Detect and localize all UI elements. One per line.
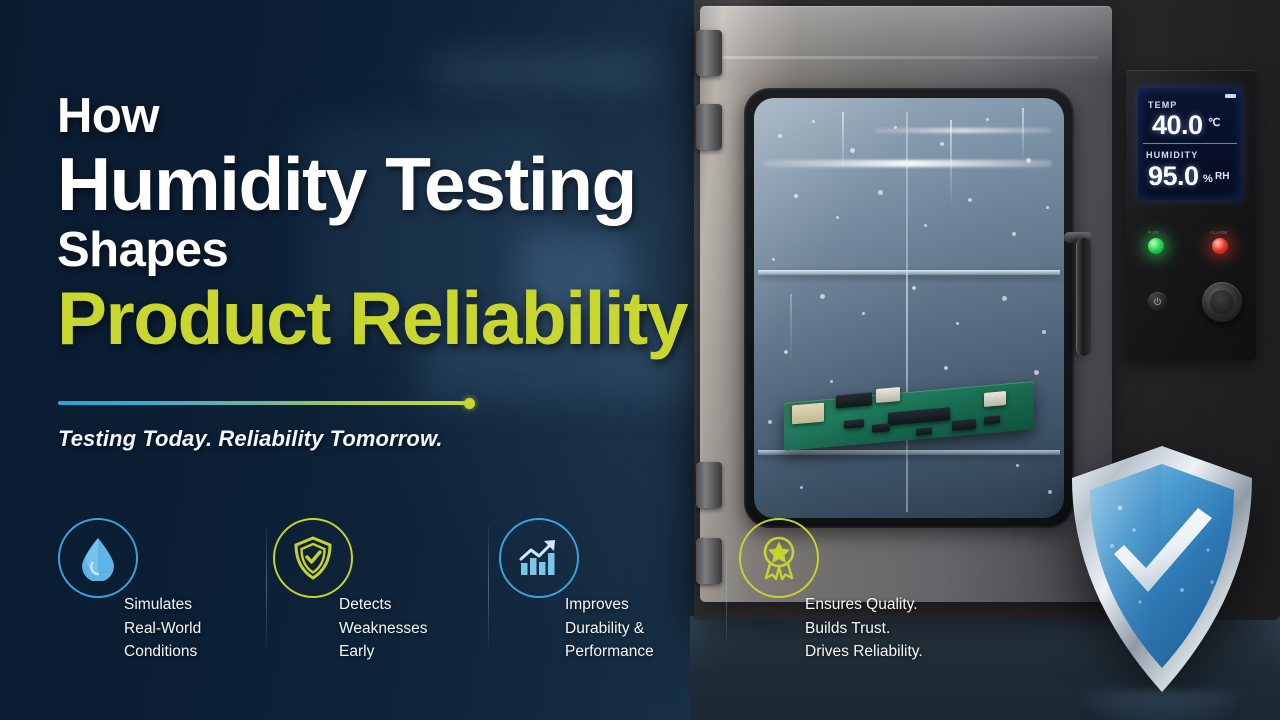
door-seam xyxy=(716,56,1098,59)
award-ribbon-icon xyxy=(757,534,801,582)
feature-line: Simulates xyxy=(124,593,201,617)
mode-button[interactable] xyxy=(1148,292,1167,311)
humidity-unit-rh: RH xyxy=(1215,171,1229,182)
headline-line-2: Humidity Testing xyxy=(57,147,717,222)
feature-line: Weaknesses xyxy=(339,617,427,641)
door-hinge-lower xyxy=(696,462,722,508)
feature-item-improves: Improves Durability & Performance xyxy=(499,518,739,664)
headline-line-1: How xyxy=(57,92,717,141)
feature-divider-3 xyxy=(726,524,727,646)
lcd-separator xyxy=(1143,143,1237,144)
humidity-value: 95.0 xyxy=(1148,161,1199,192)
shield-check-icon-ring xyxy=(273,518,353,598)
feature-divider-2 xyxy=(488,524,489,646)
headline-line-4: Product Reliability xyxy=(57,281,717,356)
feature-text-improves: Improves Durability & Performance xyxy=(565,593,654,664)
humidity-unit-percent: % xyxy=(1203,173,1213,185)
feature-line: Improves xyxy=(565,593,654,617)
water-drop-icon xyxy=(78,535,118,581)
chamber-window-glass xyxy=(754,98,1064,518)
door-highlight xyxy=(700,6,1112,76)
chamber-window-frame xyxy=(744,88,1074,528)
feature-line: Real-World xyxy=(124,617,201,641)
shield-check-icon xyxy=(292,535,334,581)
feature-item-detects: Detects Weaknesses Early xyxy=(273,518,499,664)
temp-value: 40.0 xyxy=(1152,110,1203,141)
feature-line: Conditions xyxy=(124,640,201,664)
feature-line: Ensures Quality. xyxy=(805,593,923,617)
divider-line xyxy=(58,401,470,405)
feature-line: Durability & xyxy=(565,617,654,641)
glass-reflection xyxy=(754,98,1064,518)
feature-line: Performance xyxy=(565,640,654,664)
feature-text-simulates: Simulates Real-World Conditions xyxy=(124,593,201,664)
temp-label: TEMP xyxy=(1148,100,1177,110)
headline-block: How Humidity Testing Shapes Product Reli… xyxy=(57,92,717,356)
divider-end-dot xyxy=(464,398,475,409)
tagline: Testing Today. Reliability Tomorrow. xyxy=(58,426,443,452)
feature-line: Early xyxy=(339,640,427,664)
knob-inner xyxy=(1210,290,1234,314)
bg-blob-ceiling-light xyxy=(430,60,660,82)
growth-chart-icon xyxy=(517,537,561,579)
alarm-led-caption: ALARM xyxy=(1210,230,1228,235)
quality-shield-badge xyxy=(1062,442,1262,700)
humidity-label: HUMIDITY xyxy=(1146,150,1198,160)
growth-chart-icon-ring xyxy=(499,518,579,598)
feature-line: Drives Reliability. xyxy=(805,640,923,664)
lcd-display: TEMP 40.0 ℃ HUMIDITY 95.0 % RH xyxy=(1138,88,1242,200)
door-handle[interactable] xyxy=(1076,238,1091,356)
feature-divider-1 xyxy=(266,524,267,646)
feature-row: Simulates Real-World Conditions Detects … xyxy=(58,518,1058,683)
feature-line: Detects xyxy=(339,593,427,617)
feature-item-simulates: Simulates Real-World Conditions xyxy=(58,518,273,664)
power-led-green xyxy=(1148,238,1164,254)
feature-text-ensures: Ensures Quality. Builds Trust. Drives Re… xyxy=(805,593,923,664)
feature-text-detects: Detects Weaknesses Early xyxy=(339,593,427,664)
alarm-led-red xyxy=(1212,238,1228,254)
accent-divider xyxy=(58,398,483,408)
power-led-caption: RUN xyxy=(1148,230,1159,235)
water-drop-icon-ring xyxy=(58,518,138,598)
temp-unit: ℃ xyxy=(1208,116,1220,129)
feature-item-ensures: Ensures Quality. Builds Trust. Drives Re… xyxy=(739,518,999,664)
feature-line: Builds Trust. xyxy=(805,617,923,641)
poster-canvas: TEMP 40.0 ℃ HUMIDITY 95.0 % RH RUN ALARM xyxy=(0,0,1280,720)
door-hinge-top xyxy=(696,30,722,76)
control-panel: TEMP 40.0 ℃ HUMIDITY 95.0 % RH RUN ALARM xyxy=(1126,70,1256,360)
award-ribbon-icon-ring xyxy=(739,518,819,598)
rotary-knob[interactable] xyxy=(1202,282,1242,322)
power-icon xyxy=(1153,297,1162,306)
battery-icon xyxy=(1225,94,1236,98)
headline-line-3: Shapes xyxy=(57,226,717,275)
